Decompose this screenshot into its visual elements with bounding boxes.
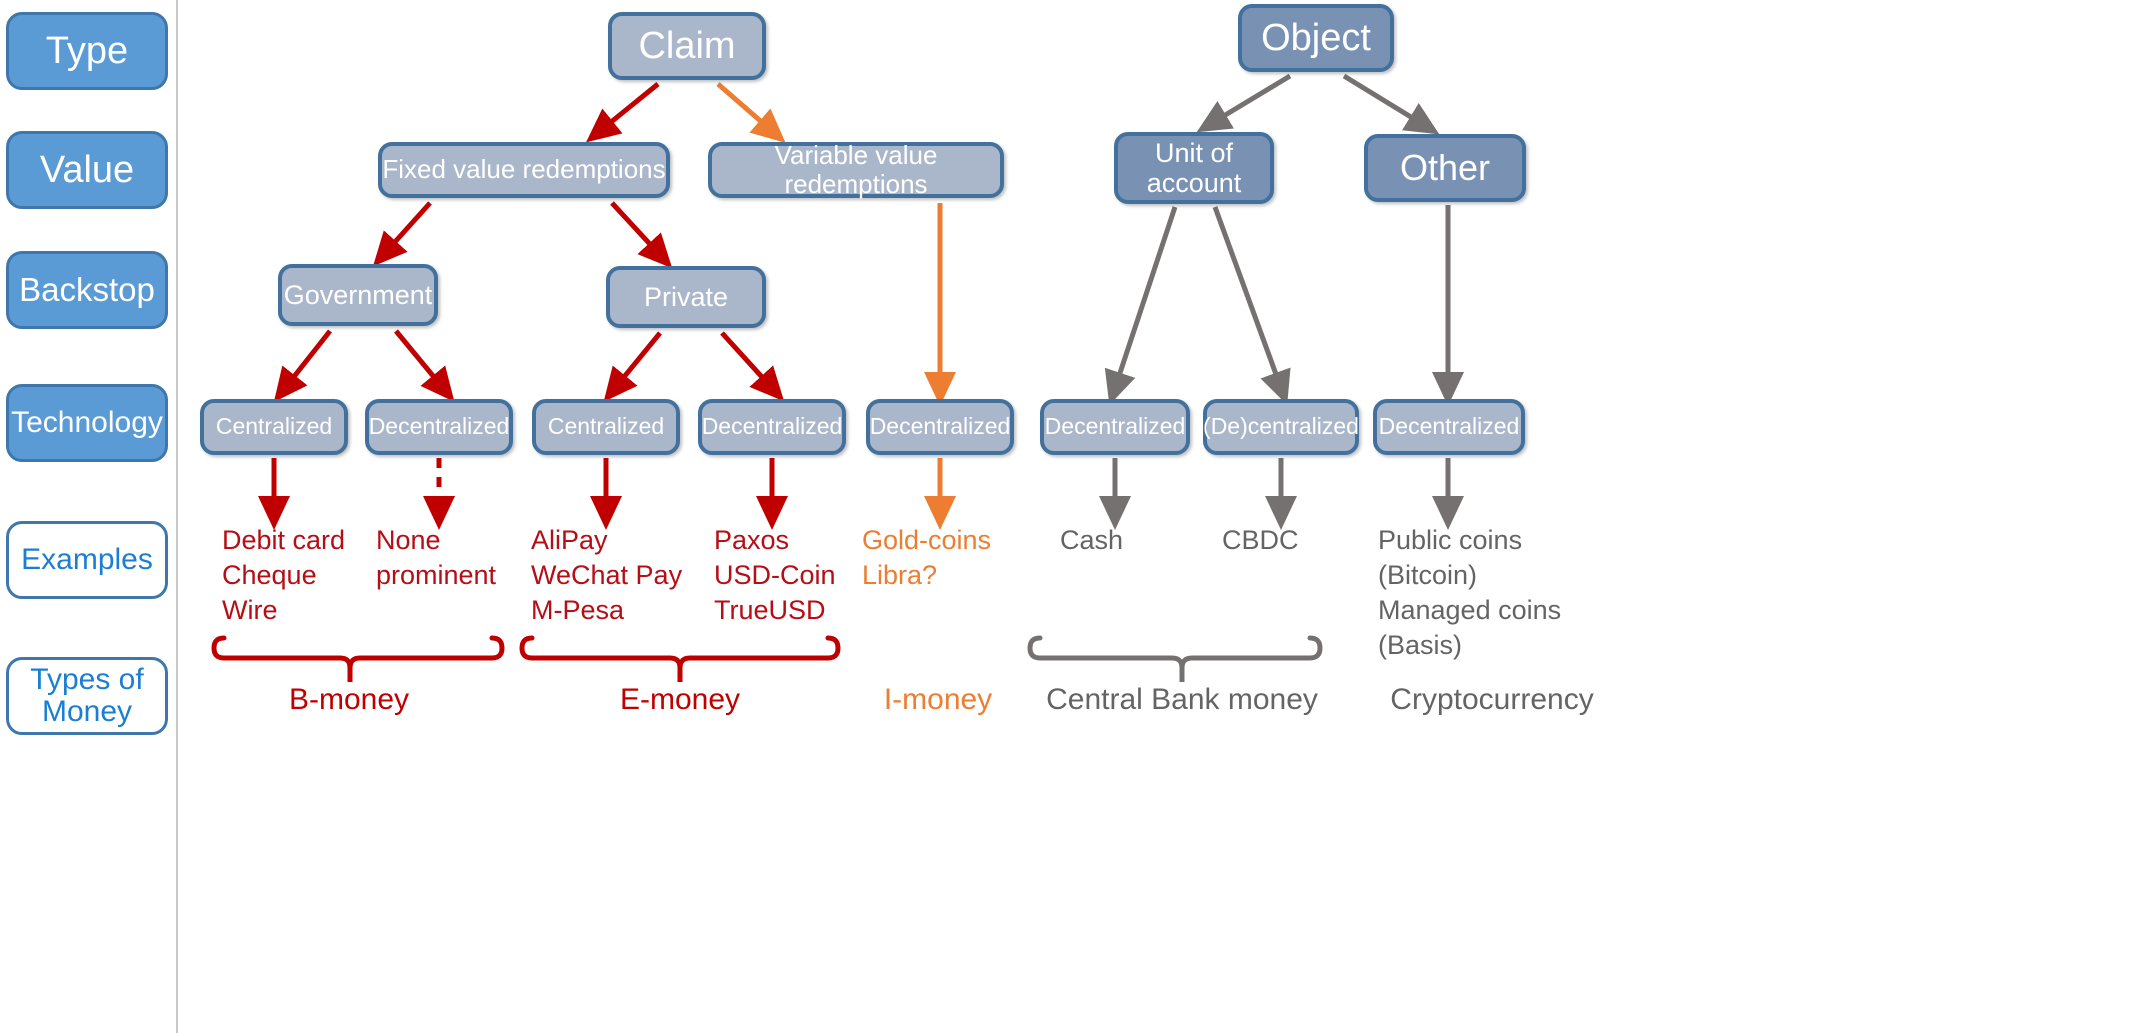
edge-private-to-decentralized [722,333,772,388]
node-label: Claim [638,25,735,68]
node-tech-cash-decentralized[interactable]: Decentralized [1040,399,1190,455]
node-tech-government-decentralized[interactable]: Decentralized [365,399,513,455]
category-central-bank-money: Central Bank money [1042,683,1322,717]
node-tech-crypto-decentralized[interactable]: Decentralized [1373,399,1525,455]
node-label: Other [1400,148,1490,188]
node-label: Centralized [216,414,332,440]
category-i-money: I-money [838,683,1038,717]
examples-b-money-centralized: Debit card Cheque Wire [222,523,382,628]
node-tech-private-centralized[interactable]: Centralized [532,399,680,455]
legend-item-backstop: Backstop [6,251,168,329]
edge-private-to-centralized [615,333,660,388]
legend-label: Type [46,31,128,71]
examples-i-money: Gold-coins Libra? [862,523,1032,593]
node-other[interactable]: Other [1364,134,1526,202]
edge-fixed-to-government [385,203,430,253]
legend-item-technology: Technology [6,384,168,462]
node-object[interactable]: Object [1238,4,1394,72]
node-label: Decentralized [870,414,1011,440]
node-tech-imoney-decentralized[interactable]: Decentralized [866,399,1014,455]
legend-item-value: Value [6,131,168,209]
node-label: Centralized [548,414,664,440]
edge-layer [0,0,2145,1033]
category-b-money: B-money [244,683,454,717]
category-cryptocurrency: Cryptocurrency [1372,683,1612,717]
node-label: Government [284,280,433,310]
legend-item-examples: Examples [6,521,168,599]
edge-object-to-unit-of-account [1212,76,1290,123]
edge-claim-to-variable-value [718,84,772,131]
edge-fixed-to-private [612,203,660,255]
legend-divider [176,0,178,1033]
edge-object-to-other [1344,76,1424,125]
examples-cash: Cash [1060,523,1180,558]
examples-b-money-decentralized: None prominent [376,523,536,593]
edge-unit-to-cash-tech [1115,207,1175,388]
node-label: Decentralized [702,414,843,440]
node-tech-government-centralized[interactable]: Centralized [200,399,348,455]
node-tech-cbdc-decentralized[interactable]: (De)centralized [1203,399,1359,455]
examples-cbdc: CBDC [1222,523,1352,558]
legend-item-type: Type [6,12,168,90]
node-variable-value-redemptions[interactable]: Variable value redemptions [708,142,1004,198]
edge-unit-to-cbdc-tech [1215,207,1281,388]
node-label: Decentralized [1045,414,1186,440]
node-label: Unit of account [1147,138,1242,198]
legend-item-types-of-money: Types of Money [6,657,168,735]
node-label: (De)centralized [1203,414,1359,440]
node-tech-private-decentralized[interactable]: Decentralized [698,399,846,455]
examples-e-money-centralized: AliPay WeChat Pay M-Pesa [531,523,721,628]
node-claim[interactable]: Claim [608,12,766,80]
node-government[interactable]: Government [278,264,438,326]
node-fixed-value-redemptions[interactable]: Fixed value redemptions [378,142,670,198]
edge-claim-to-fixed-value [600,84,658,131]
legend-label: Types of Money [30,664,143,728]
bracket-central-bank-money [1030,638,1320,682]
examples-cryptocurrency: Public coins (Bitcoin) Managed coins (Ba… [1378,523,1588,663]
node-label: Private [644,282,728,312]
diagram-canvas: Type Value Backstop Technology Examples … [0,0,2145,1033]
legend-label: Backstop [19,273,155,308]
edge-government-to-decentralized [396,331,443,388]
node-label: Decentralized [1379,414,1520,440]
node-label: Object [1261,17,1371,60]
category-e-money: E-money [575,683,785,717]
edge-government-to-centralized [285,331,330,388]
node-label: Decentralized [369,414,510,440]
node-unit-of-account[interactable]: Unit of account [1114,132,1274,204]
bracket-e-money [522,638,838,682]
node-label: Variable value redemptions [712,141,1000,199]
node-private[interactable]: Private [606,266,766,328]
legend-label: Examples [21,544,153,576]
node-label: Fixed value redemptions [382,155,665,184]
legend-label: Technology [11,407,163,439]
legend-label: Value [40,150,134,190]
bracket-b-money [214,638,502,682]
